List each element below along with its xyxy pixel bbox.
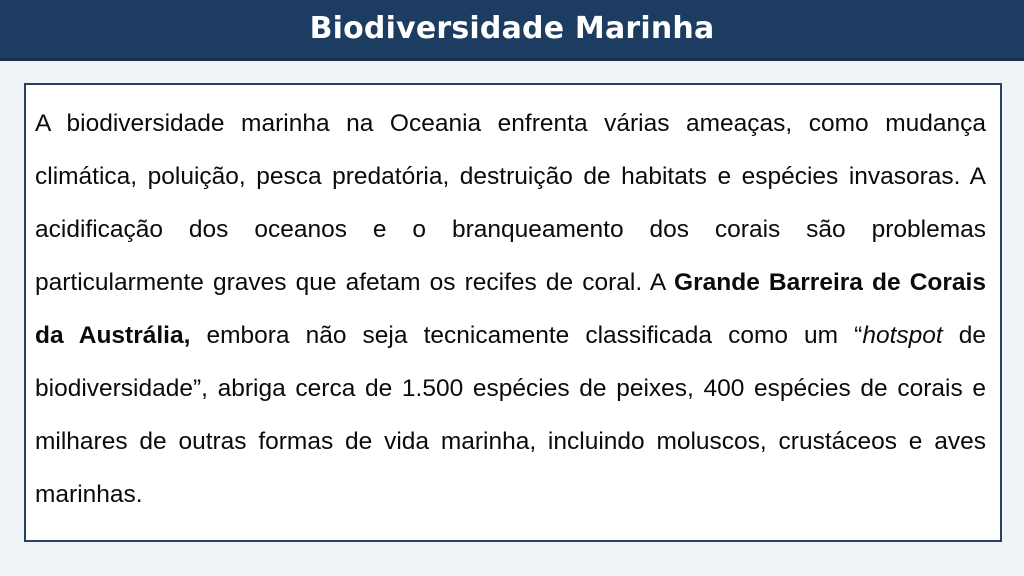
paragraph-run-normal: de biodiversidade”, abriga cerca de 1.50… <box>35 322 986 508</box>
header-bar: Biodiversidade Marinha <box>0 0 1024 61</box>
body-paragraph: A biodiversidade marinha na Oceania enfr… <box>35 97 986 521</box>
paragraph-run-italic: hotspot <box>862 322 942 349</box>
paragraph-run-normal: embora não seja tecnicamente classificad… <box>190 322 862 349</box>
slide-root: Biodiversidade Marinha A biodiversidade … <box>0 0 1024 576</box>
content-card: A biodiversidade marinha na Oceania enfr… <box>24 83 1002 542</box>
page-title: Biodiversidade Marinha <box>294 14 731 44</box>
